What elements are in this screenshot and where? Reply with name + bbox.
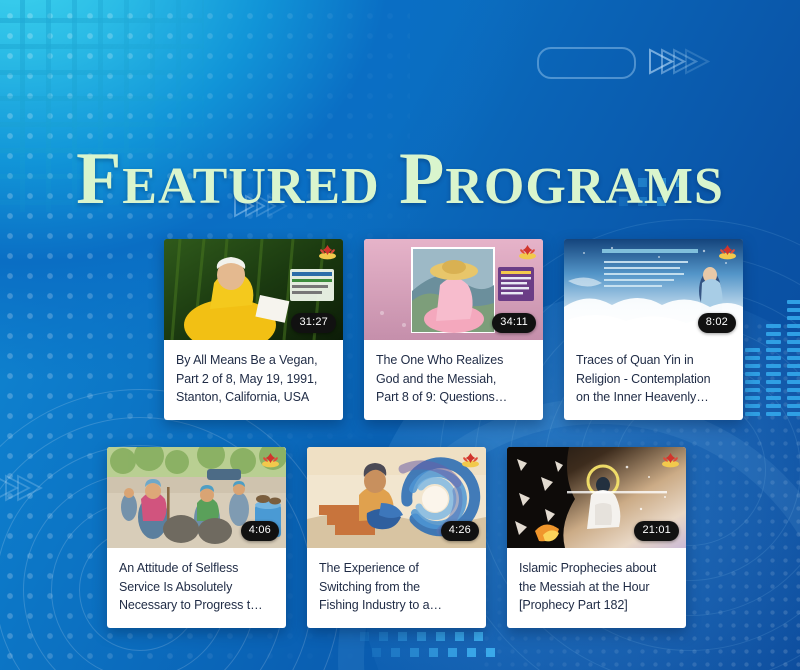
program-title-line: Islamic Prophecies about xyxy=(519,559,675,578)
channel-logo-icon xyxy=(518,243,537,260)
program-title-line: the Messiah at the Hour xyxy=(519,578,675,597)
program-thumbnail[interactable]: 21:01 xyxy=(507,447,686,548)
program-row-bottom: 4:06An Attitude of SelflessService Is Ab… xyxy=(107,447,686,628)
program-title-line: [Prophecy Part 182] xyxy=(519,596,675,615)
duration-badge: 31:27 xyxy=(291,313,336,333)
duration-badge: 4:06 xyxy=(241,521,279,541)
equalizer-column xyxy=(787,300,800,416)
channel-logo-icon xyxy=(461,451,480,468)
program-title: Traces of Quan Yin inReligion - Contempl… xyxy=(564,340,743,420)
featured-programs-banner: Featured Programs 31:27By All Means Be a… xyxy=(0,0,800,670)
program-title-line: The Experience of xyxy=(319,559,475,578)
program-card[interactable]: 4:26The Experience ofSwitching from theF… xyxy=(307,447,486,628)
program-title-line: Stanton, California, USA xyxy=(176,388,332,407)
duration-badge: 21:01 xyxy=(634,521,679,541)
program-title-line: Service Is Absolutely xyxy=(119,578,275,597)
program-row-top: 31:27By All Means Be a Vegan,Part 2 of 8… xyxy=(164,239,743,420)
equalizer-column xyxy=(766,324,781,416)
program-title-line: Part 8 of 9: Questions… xyxy=(376,388,532,407)
program-title: By All Means Be a Vegan,Part 2 of 8, May… xyxy=(164,340,343,420)
program-thumbnail[interactable]: 31:27 xyxy=(164,239,343,340)
duration-badge: 4:26 xyxy=(441,521,479,541)
program-title-line: An Attitude of Selfless xyxy=(119,559,275,578)
program-card[interactable]: 34:11The One Who RealizesGod and the Mes… xyxy=(364,239,543,420)
program-title-line: The One Who Realizes xyxy=(376,351,532,370)
program-thumbnail[interactable]: 4:26 xyxy=(307,447,486,548)
program-thumbnail[interactable]: 34:11 xyxy=(364,239,543,340)
equalizer-column xyxy=(745,348,760,416)
program-title-line: on the Inner Heavenly… xyxy=(576,388,732,407)
program-title-line: Traces of Quan Yin in xyxy=(576,351,732,370)
program-card[interactable]: 31:27By All Means Be a Vegan,Part 2 of 8… xyxy=(164,239,343,420)
program-card[interactable]: 21:01Islamic Prophecies aboutthe Messiah… xyxy=(507,447,686,628)
program-title: Islamic Prophecies aboutthe Messiah at t… xyxy=(507,548,686,628)
program-title-line: Necessary to Progress t… xyxy=(119,596,275,615)
program-title-line: By All Means Be a Vegan, xyxy=(176,351,332,370)
channel-logo-icon xyxy=(718,243,737,260)
program-thumbnail[interactable]: 8:02 xyxy=(564,239,743,340)
program-title-line: Religion - Contemplation xyxy=(576,370,732,389)
equalizer-bars-right xyxy=(745,300,800,416)
program-thumbnail[interactable]: 4:06 xyxy=(107,447,286,548)
program-card[interactable]: 4:06An Attitude of SelflessService Is Ab… xyxy=(107,447,286,628)
square-cluster-bottom xyxy=(372,648,495,657)
program-title: The One Who RealizesGod and the Messiah,… xyxy=(364,340,543,420)
channel-logo-icon xyxy=(661,451,680,468)
program-card[interactable]: 8:02Traces of Quan Yin inReligion - Cont… xyxy=(564,239,743,420)
square-cluster-bottom-upper xyxy=(360,632,483,641)
duration-badge: 8:02 xyxy=(698,313,736,333)
channel-logo-icon xyxy=(318,243,337,260)
channel-logo-icon xyxy=(718,243,737,260)
channel-logo-icon xyxy=(261,451,280,468)
program-title-line: Switching from the xyxy=(319,578,475,597)
program-title-line: Part 2 of 8, May 19, 1991, xyxy=(176,370,332,389)
channel-logo-icon xyxy=(661,451,680,468)
program-title-line: God and the Messiah, xyxy=(376,370,532,389)
channel-logo-icon xyxy=(461,451,480,468)
pill-outline-icon xyxy=(537,47,636,79)
channel-logo-icon xyxy=(261,451,280,468)
channel-logo-icon xyxy=(518,243,537,260)
duration-badge: 34:11 xyxy=(492,313,536,333)
page-title: Featured Programs xyxy=(0,142,800,216)
program-title: An Attitude of SelflessService Is Absolu… xyxy=(107,548,286,628)
program-title-line: Fishing Industry to a… xyxy=(319,596,475,615)
channel-logo-icon xyxy=(318,243,337,260)
program-title: The Experience ofSwitching from theFishi… xyxy=(307,548,486,628)
